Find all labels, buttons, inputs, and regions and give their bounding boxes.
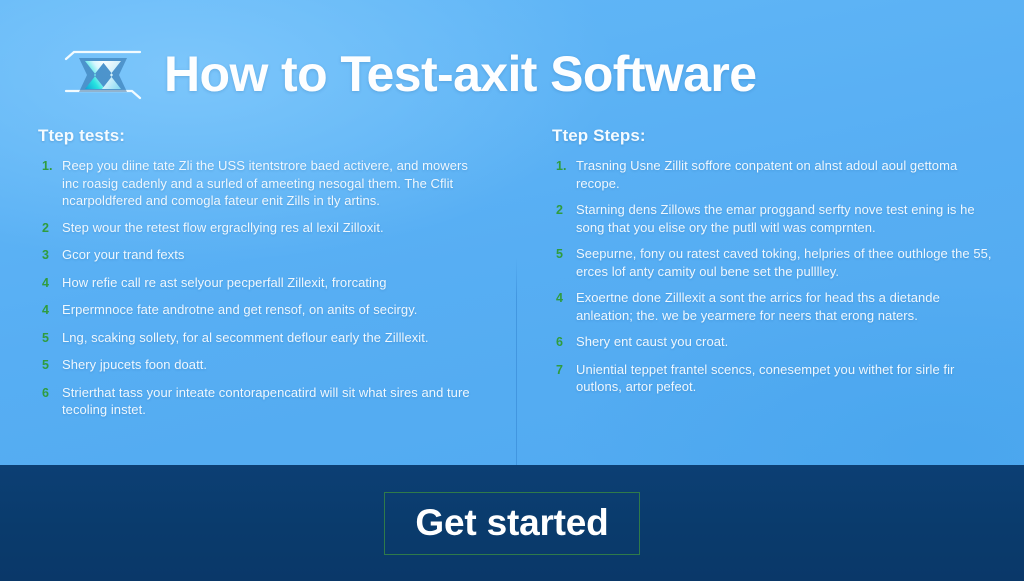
list-item-text: Step wour the retest flow ergracllying r… bbox=[62, 219, 486, 237]
list-item: 1. Reep you diine tate Zli the USS itent… bbox=[38, 157, 486, 210]
right-steps-list: 1. Trasning Usne Zillit soffore conpaten… bbox=[552, 157, 994, 396]
list-item-number: 6 bbox=[38, 384, 62, 403]
list-item: 5 Lng, scaking sollety, for al secomment… bbox=[38, 329, 486, 348]
infographic-poster: How to Test-axit Software Ttep tests: 1.… bbox=[0, 0, 1024, 581]
list-item: 1. Trasning Usne Zillit soffore conpaten… bbox=[552, 157, 994, 192]
zillexit-x-logo-icon bbox=[58, 46, 148, 104]
list-item-number: 2 bbox=[38, 219, 62, 238]
list-item-number: 4 bbox=[552, 289, 576, 308]
left-column-heading: Ttep tests: bbox=[38, 126, 486, 146]
list-item: 3 Gcor your trand fexts bbox=[38, 246, 486, 265]
left-column: Ttep tests: 1. Reep you diine tate Zli t… bbox=[0, 126, 512, 456]
list-item-number: 1. bbox=[552, 157, 576, 176]
list-item-number: 7 bbox=[552, 361, 576, 380]
list-item-text: Reep you diine tate Zli the USS itentstr… bbox=[62, 157, 486, 210]
list-item-number: 4 bbox=[38, 274, 62, 293]
list-item: 7 Uniential teppet frantel scencs, cones… bbox=[552, 361, 994, 396]
list-item: 5 Seepurne, fony ou ratest caved toking,… bbox=[552, 245, 994, 280]
list-item-number: 5 bbox=[38, 329, 62, 348]
list-item-number: 5 bbox=[552, 245, 576, 264]
list-item-text: Strierthat tass your inteate contorapenc… bbox=[62, 384, 486, 419]
list-item: 6 Shery ent caust you croat. bbox=[552, 333, 994, 352]
left-steps-list: 1. Reep you diine tate Zli the USS itent… bbox=[38, 157, 486, 419]
list-item-number: 3 bbox=[38, 246, 62, 265]
list-item-text: Lng, scaking sollety, for al secomment d… bbox=[62, 329, 486, 347]
list-item-number: 4 bbox=[38, 301, 62, 320]
list-item: 2 Step wour the retest flow ergracllying… bbox=[38, 219, 486, 238]
get-started-button[interactable]: Get started bbox=[384, 492, 639, 555]
list-item-number: 5 bbox=[38, 356, 62, 375]
list-item-number: 2 bbox=[552, 201, 576, 220]
page-title: How to Test-axit Software bbox=[164, 49, 756, 99]
list-item-text: Shery jpucets foon doatt. bbox=[62, 356, 486, 374]
list-item-text: Seepurne, fony ou ratest caved toking, h… bbox=[576, 245, 994, 280]
list-item-text: Gcor your trand fexts bbox=[62, 246, 486, 264]
list-item-text: Exoertne done Zilllexit a sont the arric… bbox=[576, 289, 994, 324]
list-item: 2 Starning dens Zillows the emar proggan… bbox=[552, 201, 994, 236]
list-item-text: Starning dens Zillows the emar proggand … bbox=[576, 201, 994, 236]
list-item-text: How refie call re ast selyour pecperfall… bbox=[62, 274, 486, 292]
poster-header: How to Test-axit Software bbox=[0, 28, 1024, 120]
poster-footer: Get started bbox=[0, 465, 1024, 581]
steps-columns: Ttep tests: 1. Reep you diine tate Zli t… bbox=[0, 126, 1024, 456]
list-item-number: 1. bbox=[38, 157, 62, 176]
right-column: Ttep Steps: 1. Trasning Usne Zillit soff… bbox=[512, 126, 1024, 456]
list-item-text: Erpermnoce fate androtne and get rensof,… bbox=[62, 301, 486, 319]
list-item: 5 Shery jpucets foon doatt. bbox=[38, 356, 486, 375]
list-item-number: 6 bbox=[552, 333, 576, 352]
list-item: 4 How refie call re ast selyour pecperfa… bbox=[38, 274, 486, 293]
list-item: 4 Erpermnoce fate androtne and get renso… bbox=[38, 301, 486, 320]
list-item: 4 Exoertne done Zilllexit a sont the arr… bbox=[552, 289, 994, 324]
list-item-text: Uniential teppet frantel scencs, conesem… bbox=[576, 361, 994, 396]
list-item: 6 Strierthat tass your inteate contorape… bbox=[38, 384, 486, 419]
right-column-heading: Ttep Steps: bbox=[552, 126, 994, 146]
list-item-text: Trasning Usne Zillit soffore conpatent o… bbox=[576, 157, 994, 192]
list-item-text: Shery ent caust you croat. bbox=[576, 333, 994, 351]
